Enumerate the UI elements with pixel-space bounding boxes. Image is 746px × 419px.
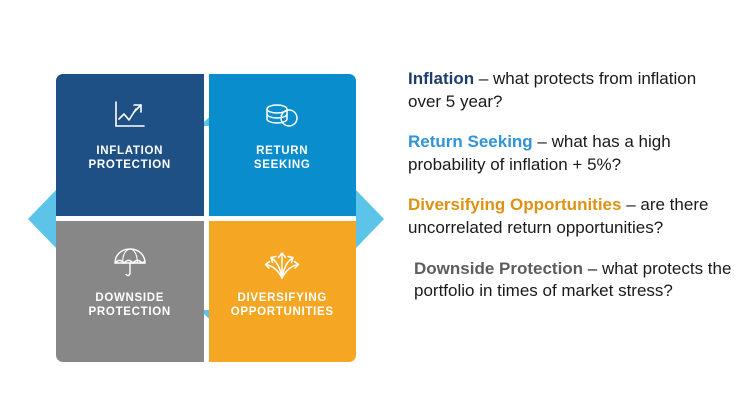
explanation-separator: – (621, 195, 640, 214)
diverging-arrows-icon (262, 243, 302, 283)
coin-stack-icon (263, 96, 301, 136)
explanation-lead: Return Seeking (408, 132, 533, 151)
arrow-left-icon (28, 190, 56, 248)
explanation-separator: – (583, 259, 602, 278)
line-chart-up-icon (112, 96, 148, 136)
explanation-lead: Downside Protection (414, 259, 583, 278)
explanation-item-diversifying-opportunities: Diversifying Opportunities – are there u… (408, 194, 732, 239)
explanation-item-downside-protection: Downside Protection – what protects the … (408, 258, 732, 303)
arrow-right-icon (356, 190, 384, 248)
explanation-lead: Inflation (408, 69, 474, 88)
explanation-separator: – (533, 132, 552, 151)
quadrant-inflation-protection[interactable]: INFLATION PROTECTION (56, 74, 204, 216)
quadrant-grid: INFLATION PROTECTION RETURN SEEKING (56, 74, 356, 362)
quadrant-label: DIVERSIFYING OPPORTUNITIES (231, 291, 334, 320)
quadrant-label: INFLATION PROTECTION (89, 144, 171, 173)
explanation-lead: Diversifying Opportunities (408, 195, 621, 214)
quadrant-diagram: INFLATION PROTECTION RETURN SEEKING (22, 48, 390, 388)
explanation-separator: – (474, 69, 493, 88)
explanation-item-inflation: Inflation – what protects from inflation… (408, 68, 732, 113)
quadrant-downside-protection[interactable]: DOWNSIDE PROTECTION (56, 221, 204, 363)
quadrant-label: DOWNSIDE PROTECTION (89, 291, 171, 320)
umbrella-icon (113, 243, 147, 283)
quadrant-return-seeking[interactable]: RETURN SEEKING (209, 74, 357, 216)
quadrant-diversifying-opportunities[interactable]: DIVERSIFYING OPPORTUNITIES (209, 221, 357, 363)
quadrant-label: RETURN SEEKING (254, 144, 311, 173)
explanation-item-return-seeking: Return Seeking – what has a high probabi… (408, 131, 732, 176)
explanation-text-panel: Inflation – what protects from inflation… (408, 68, 732, 303)
